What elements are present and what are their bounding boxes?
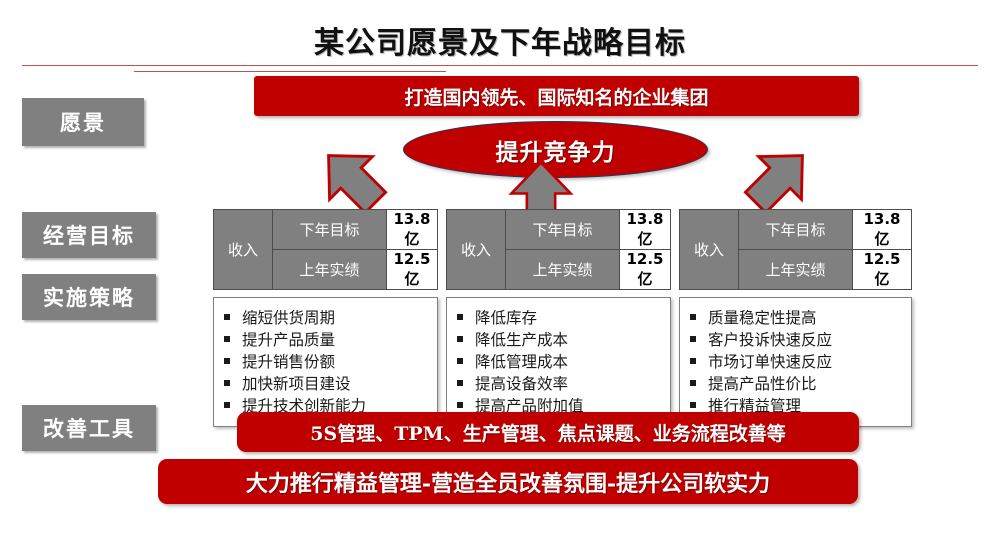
list-item-label: 提升销售份额 — [242, 351, 335, 373]
title-divider-inner — [134, 71, 446, 72]
bullet-square-icon — [690, 402, 696, 408]
bullet-square-icon — [224, 402, 230, 408]
category-label-vision[interactable]: 愿景 — [22, 98, 144, 146]
list-item-label: 降低生产成本 — [475, 329, 568, 351]
goal-strategy-column-1: 收入 下年目标 13.8亿 上年实绩 12.5亿 缩短供货周期 提升产品质量 提… — [213, 209, 438, 427]
list-item: 降低管理成本 — [457, 351, 664, 373]
vision-banner[interactable]: 打造国内领先、国际知名的企业集团 — [254, 76, 859, 116]
bullet-square-icon — [690, 380, 696, 386]
kpi-value-actual: 12.5亿 — [853, 250, 912, 290]
kpi-table: 收入 下年目标 13.8亿 上年实绩 12.5亿 — [446, 209, 671, 290]
arrow-up-right-icon — [743, 143, 815, 215]
list-item: 提升产品质量 — [224, 329, 431, 351]
bullet-square-icon — [224, 314, 230, 320]
list-item: 降低生产成本 — [457, 329, 664, 351]
kpi-name: 收入 — [680, 210, 739, 290]
list-item-label: 质量稳定性提高 — [708, 307, 817, 329]
category-label-tools[interactable]: 改善工具 — [22, 405, 156, 451]
bullet-square-icon — [224, 336, 230, 342]
goal-strategy-column-2: 收入 下年目标 13.8亿 上年实绩 12.5亿 降低库存 降低生产成本 降低管… — [446, 209, 671, 427]
list-item: 加快新项目建设 — [224, 373, 431, 395]
kpi-row-label-target: 下年目标 — [506, 210, 620, 250]
bullet-square-icon — [457, 314, 463, 320]
kpi-row-label-target: 下年目标 — [273, 210, 387, 250]
list-item: 缩短供货周期 — [224, 307, 431, 329]
bullet-square-icon — [690, 358, 696, 364]
list-item-label: 提高产品性价比 — [708, 373, 817, 395]
kpi-table: 收入 下年目标 13.8亿 上年实绩 12.5亿 — [679, 209, 912, 290]
arrow-up-left-icon — [316, 143, 388, 215]
list-item-label: 降低库存 — [475, 307, 537, 329]
kpi-value-actual: 12.5亿 — [387, 250, 438, 290]
kpi-row-label-actual: 上年实绩 — [739, 250, 853, 290]
kpi-value-actual: 12.5亿 — [620, 250, 671, 290]
bullet-square-icon — [457, 380, 463, 386]
table-row: 收入 下年目标 13.8亿 — [447, 210, 671, 250]
table-row: 收入 下年目标 13.8亿 — [214, 210, 438, 250]
list-item: 质量稳定性提高 — [690, 307, 905, 329]
page-title: 某公司愿景及下年战略目标 — [0, 18, 1000, 62]
kpi-row-label-actual: 上年实绩 — [273, 250, 387, 290]
table-row: 收入 下年目标 13.8亿 — [680, 210, 912, 250]
kpi-name: 收入 — [447, 210, 506, 290]
bullet-square-icon — [224, 380, 230, 386]
list-item: 提高设备效率 — [457, 373, 664, 395]
bullet-square-icon — [457, 358, 463, 364]
strategy-list: 降低库存 降低生产成本 降低管理成本 提高设备效率 提高产品附加值 — [446, 297, 671, 427]
kpi-value-target: 13.8亿 — [620, 210, 671, 250]
slogan-banner[interactable]: 大力推行精益管理-营造全员改善氛围-提升公司软实力 — [158, 459, 858, 504]
list-item: 降低库存 — [457, 307, 664, 329]
kpi-value-target: 13.8亿 — [853, 210, 912, 250]
bullet-square-icon — [690, 336, 696, 342]
improvement-tools-banner[interactable]: 5S管理、TPM、生产管理、焦点课题、业务流程改善等 — [237, 412, 859, 452]
list-item: 市场订单快速反应 — [690, 351, 905, 373]
list-item-label: 市场订单快速反应 — [708, 351, 832, 373]
category-label-goal[interactable]: 经营目标 — [22, 212, 156, 258]
list-item: 客户投诉快速反应 — [690, 329, 905, 351]
list-item-label: 提高设备效率 — [475, 373, 568, 395]
kpi-row-label-actual: 上年实绩 — [506, 250, 620, 290]
list-item: 提高产品性价比 — [690, 373, 905, 395]
goal-strategy-column-3: 收入 下年目标 13.8亿 上年实绩 12.5亿 质量稳定性提高 客户投诉快速反… — [679, 209, 912, 427]
list-item-label: 客户投诉快速反应 — [708, 329, 832, 351]
list-item-label: 降低管理成本 — [475, 351, 568, 373]
bullet-square-icon — [224, 358, 230, 364]
list-item-label: 提升产品质量 — [242, 329, 335, 351]
bullet-square-icon — [457, 402, 463, 408]
bullet-square-icon — [457, 336, 463, 342]
kpi-row-label-target: 下年目标 — [739, 210, 853, 250]
list-item-label: 加快新项目建设 — [242, 373, 351, 395]
category-label-strategy[interactable]: 实施策略 — [22, 274, 156, 320]
strategy-list: 缩短供货周期 提升产品质量 提升销售份额 加快新项目建设 提升技术创新能力 — [213, 297, 438, 427]
kpi-table: 收入 下年目标 13.8亿 上年实绩 12.5亿 — [213, 209, 438, 290]
kpi-value-target: 13.8亿 — [387, 210, 438, 250]
list-item-label: 缩短供货周期 — [242, 307, 335, 329]
slide-canvas: { "title": "某公司愿景及下年战略目标", "colors": { "… — [0, 0, 1000, 546]
list-item: 提升销售份额 — [224, 351, 431, 373]
title-divider-outer — [22, 65, 978, 66]
strategy-list: 质量稳定性提高 客户投诉快速反应 市场订单快速反应 提高产品性价比 推行精益管理 — [679, 297, 912, 427]
bullet-square-icon — [690, 314, 696, 320]
kpi-name: 收入 — [214, 210, 273, 290]
